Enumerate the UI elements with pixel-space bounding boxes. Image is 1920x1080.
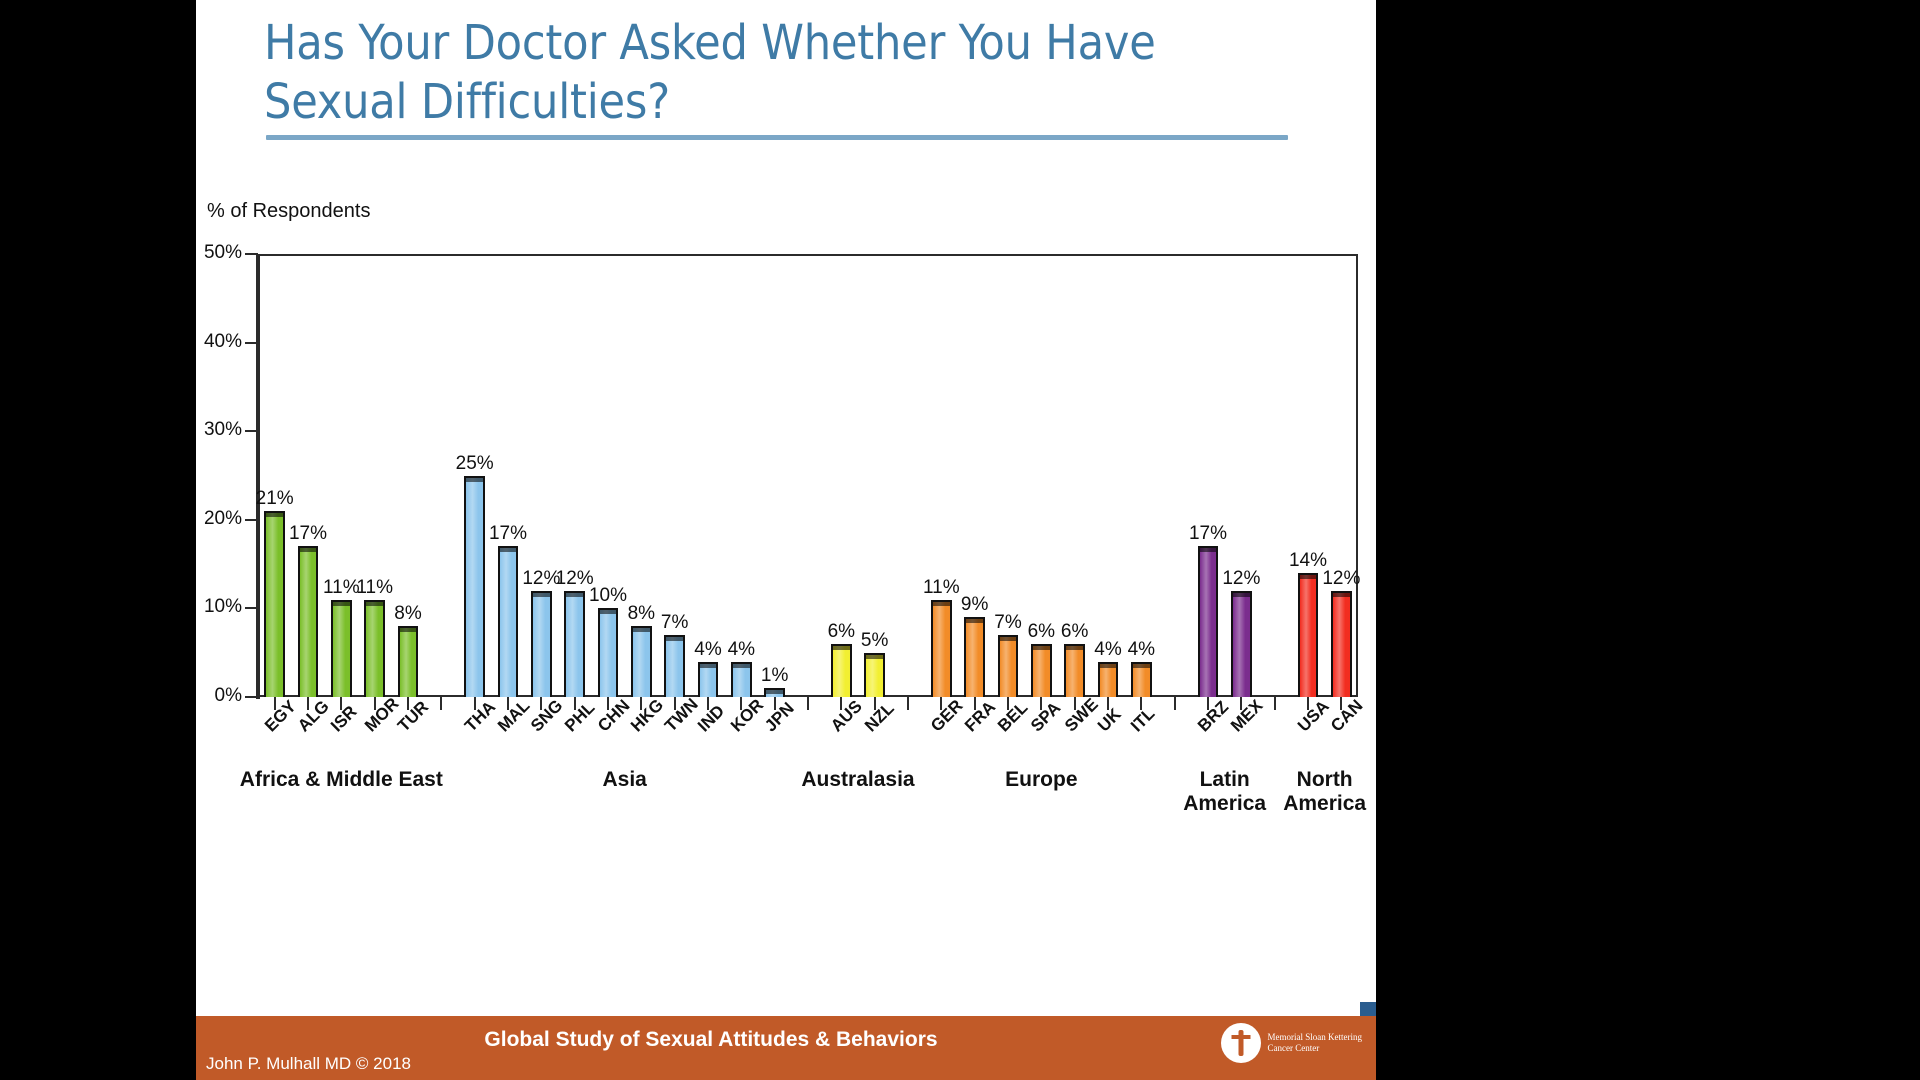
y-tick-label: 10% (204, 596, 242, 618)
group-labels: Africa & Middle EastAsiaAustralasiaEurop… (258, 768, 1358, 828)
bar-tur: 8% (398, 626, 419, 697)
bar-value-label: 21% (256, 488, 294, 510)
x-axis-label-itl: ITL (1127, 704, 1159, 736)
bar-value-label: 17% (289, 523, 327, 545)
bar-value-label: 5% (861, 630, 888, 652)
bar-jpn: 1% (764, 688, 785, 697)
y-tick-mark (245, 253, 258, 255)
msk-logo-line1: Memorial Sloan Kettering (1268, 1032, 1362, 1043)
msk-logo: Memorial Sloan Kettering Cancer Center (1221, 1023, 1362, 1063)
y-tick-label: 30% (204, 419, 242, 441)
group-label: Australasia (801, 768, 914, 792)
bar-can: 12% (1331, 591, 1352, 697)
group-label: Asia (602, 768, 646, 792)
y-tick-label: 20% (204, 508, 242, 530)
bar-sng: 12% (531, 591, 552, 697)
y-tick-label: 50% (204, 242, 242, 264)
msk-emblem-icon (1221, 1023, 1261, 1063)
bar-bel: 7% (998, 635, 1019, 697)
bar-value-label: 4% (728, 639, 755, 661)
x-axis-labels: EGYALGISRMORTURTHAMALSNGPHLCHNHKGTWNINDK… (258, 708, 1358, 768)
bar-value-label: 12% (522, 568, 560, 590)
bar-chart: % of Respondents 0%10%20%30%40%50% 21%17… (196, 190, 1376, 820)
bar-value-label: 4% (1128, 639, 1155, 661)
y-axis-title: % of Respondents (207, 200, 370, 223)
bar-phl: 12% (564, 591, 585, 697)
bar-fra: 9% (964, 617, 985, 697)
bar-alg: 17% (298, 546, 319, 697)
bar-value-label: 7% (994, 612, 1021, 634)
bar-value-label: 25% (456, 453, 494, 475)
slide-canvas: Has Your Doctor Asked Whether You Have S… (196, 0, 1376, 1080)
bar-value-label: 6% (1028, 621, 1055, 643)
footer-title: Global Study of Sexual Attitudes & Behav… (196, 1028, 1376, 1052)
bar-ger: 11% (931, 600, 952, 697)
bar-value-label: 12% (556, 568, 594, 590)
bar-twn: 7% (664, 635, 685, 697)
group-label: Latin America (1183, 768, 1266, 816)
title-block: Has Your Doctor Asked Whether You Have S… (264, 14, 1294, 140)
group-label: Africa & Middle East (240, 768, 443, 792)
bar-value-label: 10% (589, 585, 627, 607)
footer-bar: Global Study of Sexual Attitudes & Behav… (196, 1016, 1376, 1080)
scroll-indicator[interactable] (1360, 1002, 1376, 1016)
bar-value-label: 4% (1094, 639, 1121, 661)
bar-value-label: 17% (1189, 523, 1227, 545)
y-tick-label: 40% (204, 331, 242, 353)
bar-value-label: 17% (489, 523, 527, 545)
bar-usa: 14% (1298, 573, 1319, 697)
bar-value-label: 11% (923, 577, 960, 599)
bar-brz: 17% (1198, 546, 1219, 697)
footer-credit: John P. Mulhall MD © 2018 (206, 1054, 411, 1074)
msk-logo-line2: Cancer Center (1268, 1043, 1362, 1054)
bar-value-label: 9% (961, 594, 988, 616)
bar-ind: 4% (698, 662, 719, 697)
bar-aus: 6% (831, 644, 852, 697)
bar-hkg: 8% (631, 626, 652, 697)
bar-value-label: 7% (661, 612, 688, 634)
bar-isr: 11% (331, 600, 352, 697)
bar-value-label: 8% (394, 603, 421, 625)
bar-egy: 21% (264, 511, 285, 697)
title-underline-rule (266, 135, 1288, 140)
msk-logo-text: Memorial Sloan Kettering Cancer Center (1268, 1032, 1362, 1055)
bar-value-label: 12% (1222, 568, 1260, 590)
bar-mex: 12% (1231, 591, 1252, 697)
bar-value-label: 1% (761, 665, 788, 687)
y-tick-mark (245, 607, 258, 609)
group-label: Europe (1005, 768, 1077, 792)
y-tick-mark (245, 342, 258, 344)
bar-tha: 25% (464, 476, 485, 698)
bar-nzl: 5% (864, 653, 885, 697)
bar-value-label: 6% (828, 621, 855, 643)
x-axis-label-isr: ISR (327, 702, 361, 736)
bar-chn: 10% (598, 608, 619, 697)
bars-layer: 21%17%11%11%8%25%17%12%12%10%8%7%4%4%1%6… (258, 254, 1358, 697)
bar-value-label: 11% (356, 577, 393, 599)
bar-spa: 6% (1031, 644, 1052, 697)
y-tick-mark (245, 430, 258, 432)
bar-kor: 4% (731, 662, 752, 697)
bar-value-label: 8% (628, 603, 655, 625)
bar-mor: 11% (364, 600, 385, 697)
page-title: Has Your Doctor Asked Whether You Have S… (264, 14, 1294, 131)
bar-itl: 4% (1131, 662, 1152, 697)
y-tick-label: 0% (215, 685, 242, 707)
y-tick-mark (245, 519, 258, 521)
bar-value-label: 11% (323, 577, 360, 599)
bar-swe: 6% (1064, 644, 1085, 697)
bar-value-label: 6% (1061, 621, 1088, 643)
bar-mal: 17% (498, 546, 519, 697)
bar-uk: 4% (1098, 662, 1119, 697)
bar-value-label: 4% (694, 639, 721, 661)
bar-value-label: 14% (1289, 550, 1327, 572)
bar-value-label: 12% (1322, 568, 1360, 590)
group-label: North America (1283, 768, 1366, 816)
y-tick-mark (245, 696, 258, 698)
